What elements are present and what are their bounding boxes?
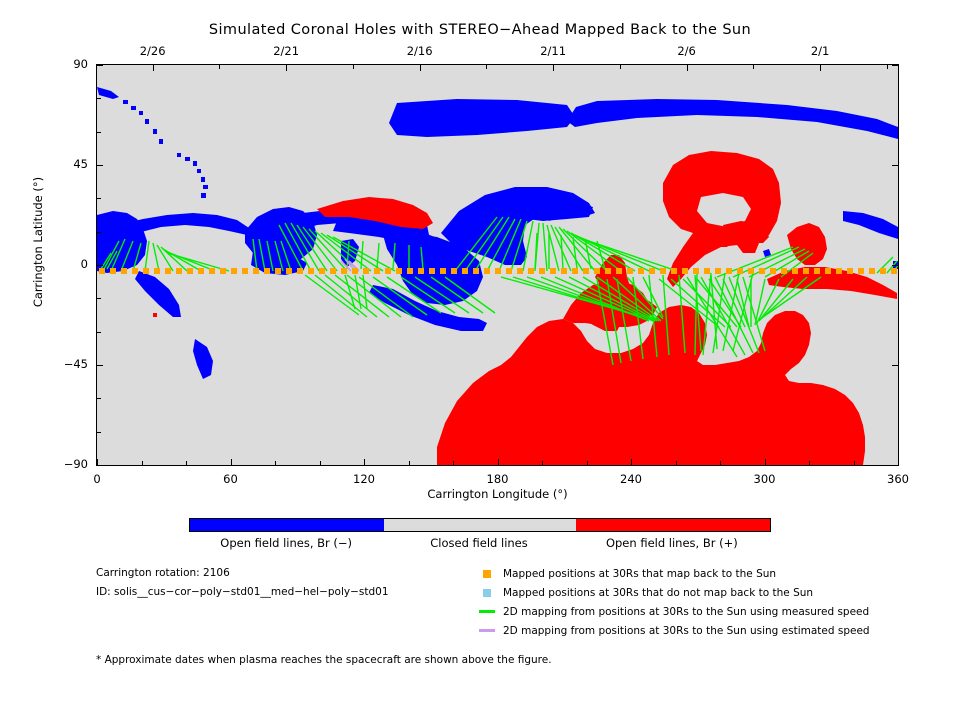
x-axis-tick [898, 459, 899, 465]
purple-line-marker [479, 629, 495, 632]
y-axis-tick-label: 0 [48, 257, 88, 271]
south-polar-large [437, 305, 865, 465]
y-axis-tick-label: −90 [48, 457, 88, 471]
y-axis-tick [97, 365, 103, 366]
y-axis-minor-tick [97, 232, 101, 233]
colorbar [189, 518, 771, 532]
legend-item-label-3: 2D mapping from positions at 30Rs to the… [503, 625, 870, 637]
y-axis-minor-tick [97, 198, 101, 199]
legend: Mapped positions at 30Rs that map back t… [483, 564, 870, 640]
top-axis-minor-tick [353, 65, 354, 69]
mapped-position-markers [99, 268, 897, 274]
y-axis-title: Carrington Latitude (°) [31, 142, 45, 342]
colorbar-segment-1 [384, 519, 575, 531]
x-axis-minor-tick [809, 461, 810, 465]
y-axis-minor-tick [97, 98, 101, 99]
north-polar-dotted-arc [97, 87, 208, 198]
footnote-text: * Approximate dates when plasma reaches … [96, 654, 552, 666]
page-title: Simulated Coronal Holes with STEREO−Ahea… [0, 22, 960, 38]
top-axis-tick [153, 65, 154, 71]
x-axis-tick [364, 459, 365, 465]
coronal-hole-map [97, 65, 898, 465]
top-axis-tick-label: 2/11 [523, 44, 583, 58]
north-polar-band-left-lobe [389, 99, 575, 137]
x-axis-minor-tick [275, 461, 276, 465]
lightblue-square-marker [483, 589, 491, 597]
colorbar-segment-label-0: Open field lines, Br (−) [176, 536, 396, 550]
x-axis-tick-label: 120 [334, 472, 394, 486]
top-axis-tick-label: 2/21 [256, 44, 316, 58]
y-axis-minor-tick [97, 432, 101, 433]
top-axis-tick-label: 2/1 [790, 44, 850, 58]
top-axis-tick-label: 2/26 [123, 44, 183, 58]
x-axis-minor-tick [453, 461, 454, 465]
top-axis-tick [286, 65, 287, 71]
y-axis-tick-label: −45 [48, 357, 88, 371]
y-axis-tick [97, 65, 103, 66]
y-axis-tick-right [892, 465, 898, 466]
x-axis-tick [631, 459, 632, 465]
legend-item-label-1: Mapped positions at 30Rs that do not map… [503, 587, 813, 599]
east-equator-sliver [843, 211, 898, 239]
x-axis-tick [765, 459, 766, 465]
x-axis-minor-tick [186, 461, 187, 465]
y-axis-tick-right [892, 165, 898, 166]
coronal-hole-svg [97, 65, 898, 465]
x-axis-minor-tick [676, 461, 677, 465]
x-axis-title: Carrington Longitude (°) [96, 487, 899, 501]
top-axis-minor-tick [753, 65, 754, 69]
tiny-red-dot [153, 313, 157, 317]
x-axis-tick-label: 300 [735, 472, 795, 486]
carrington-rotation-text: Carrington rotation: 2106 [96, 564, 389, 583]
y-axis-tick-label: 90 [48, 57, 88, 71]
central-lobe-neck [527, 203, 593, 221]
top-axis-minor-tick [620, 65, 621, 69]
x-axis-tick-label: 360 [868, 472, 928, 486]
x-axis-tick-label: 180 [468, 472, 528, 486]
top-axis-tick-label: 2/6 [657, 44, 717, 58]
y-axis-minor-tick [97, 398, 101, 399]
legend-item-label-0: Mapped positions at 30Rs that map back t… [503, 568, 776, 580]
dataset-id-text: ID: solis__cus−cor−poly−std01__med−hel−p… [96, 583, 389, 602]
north-polar-band-right [567, 99, 898, 139]
colorbar-segment-label-2: Open field lines, Br (+) [562, 536, 782, 550]
y-axis-tick-right [892, 365, 898, 366]
y-axis-tick-right [892, 265, 898, 266]
plot-area [96, 64, 899, 466]
top-axis-tick [687, 65, 688, 71]
legend-item-2: 2D mapping from positions at 30Rs to the… [483, 602, 870, 621]
top-axis-minor-tick [486, 65, 487, 69]
colorbar-segment-0 [190, 519, 384, 531]
x-axis-tick-label: 60 [201, 472, 261, 486]
legend-item-1: Mapped positions at 30Rs that do not map… [483, 583, 870, 602]
top-axis-minor-tick [887, 65, 888, 69]
y-axis-minor-tick [97, 132, 101, 133]
x-axis-tick [231, 459, 232, 465]
y-axis-tick-right [892, 65, 898, 66]
colorbar-segment-2 [576, 519, 770, 531]
southwest-streak [135, 271, 181, 317]
y-axis-tick [97, 465, 103, 466]
north-ring-with-hole [663, 151, 781, 287]
info-block: Carrington rotation: 2106 ID: solis__cus… [96, 564, 389, 602]
legend-item-3: 2D mapping from positions at 30Rs to the… [483, 621, 870, 640]
southeast-patch [787, 223, 827, 265]
x-axis-tick [498, 459, 499, 465]
x-axis-tick-label: 240 [601, 472, 661, 486]
orange-square-marker [483, 570, 491, 578]
colorbar-segment-label-1: Closed field lines [369, 536, 589, 550]
x-axis-tick-label: 0 [67, 472, 127, 486]
x-axis-minor-tick [409, 461, 410, 465]
colorbar-labels: Open field lines, Br (−)Closed field lin… [189, 536, 771, 552]
y-axis-tick [97, 165, 103, 166]
top-axis-tick [553, 65, 554, 71]
y-axis-minor-tick [97, 332, 101, 333]
x-axis-minor-tick [854, 461, 855, 465]
green-line-marker [479, 610, 495, 613]
legend-item-label-2: 2D mapping from positions at 30Rs to the… [503, 606, 869, 618]
x-axis-minor-tick [320, 461, 321, 465]
y-axis-tick-label: 45 [48, 157, 88, 171]
x-axis-minor-tick [142, 461, 143, 465]
y-axis-tick [97, 265, 103, 266]
southwest-sliver [193, 339, 213, 379]
top-axis-tick [820, 65, 821, 71]
top-axis-tick-label: 2/16 [390, 44, 450, 58]
legend-item-0: Mapped positions at 30Rs that map back t… [483, 564, 870, 583]
y-axis-minor-tick [97, 298, 101, 299]
x-axis-minor-tick [542, 461, 543, 465]
x-axis-minor-tick [587, 461, 588, 465]
top-axis-tick [420, 65, 421, 71]
x-axis-minor-tick [720, 461, 721, 465]
top-axis-minor-tick [219, 65, 220, 69]
